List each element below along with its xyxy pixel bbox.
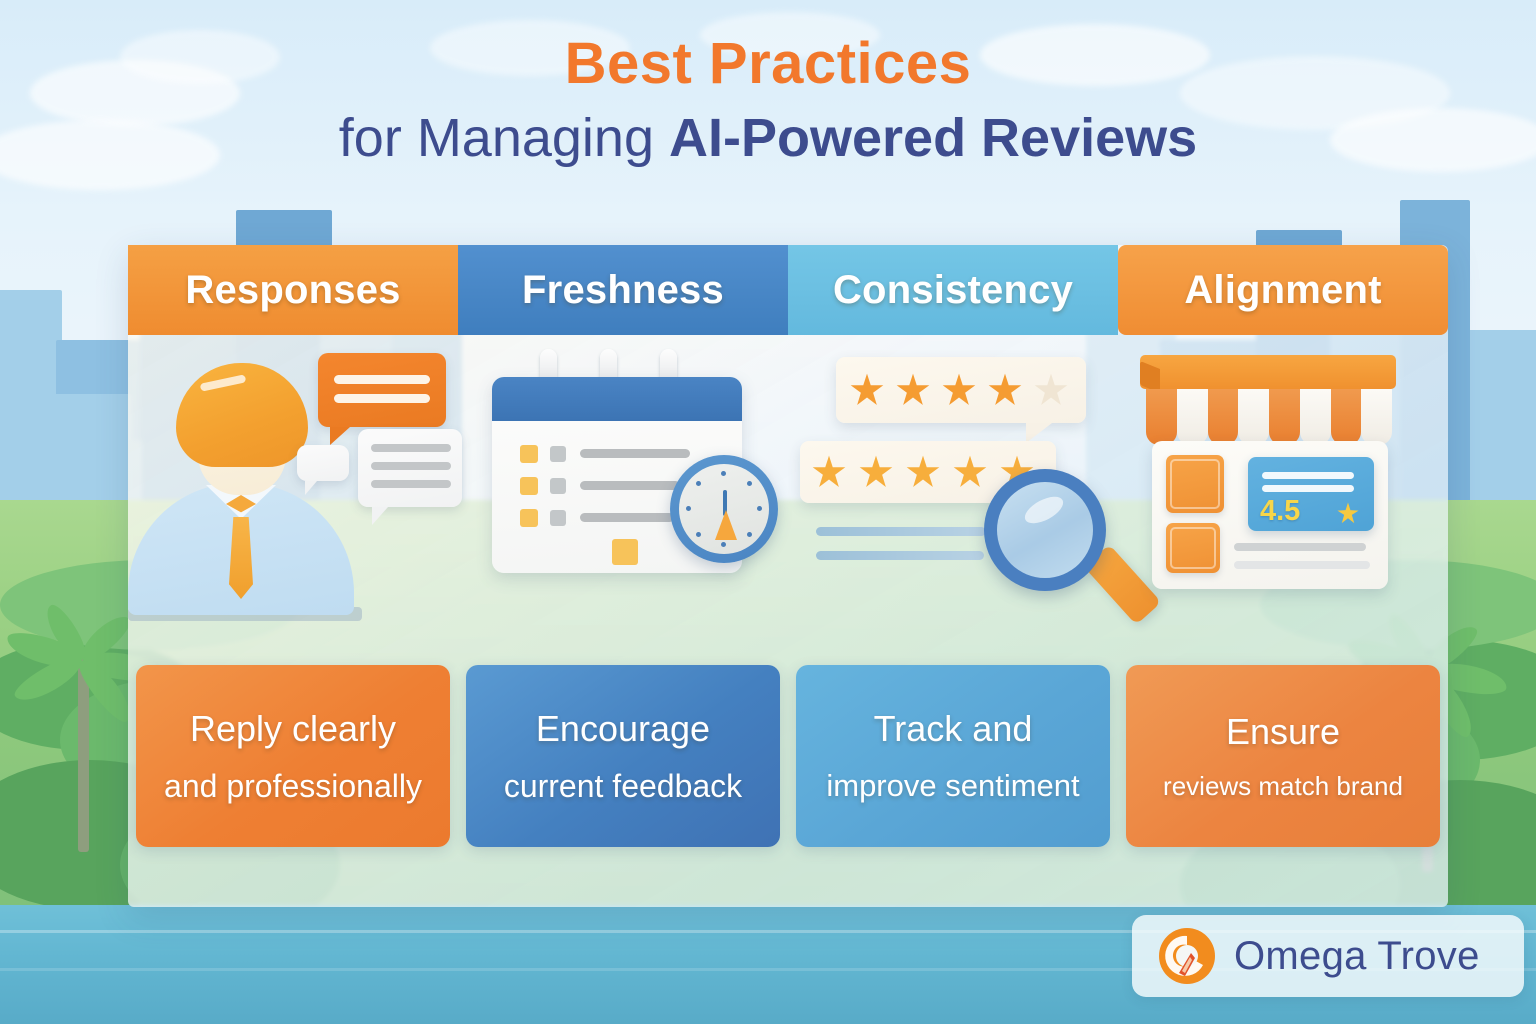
clock-tick (721, 542, 726, 547)
header-cell-consistency[interactable]: Consistency (788, 245, 1118, 335)
tile-inner-border (1170, 459, 1220, 509)
omega-swirl-icon (1158, 927, 1216, 985)
caption-cell-alignment[interactable]: Ensure reviews match brand (1118, 665, 1448, 847)
bubble-tail (330, 427, 350, 445)
header-cell-responses[interactable]: Responses (128, 245, 458, 335)
star-icon-empty (1034, 373, 1068, 407)
calendar-checkbox (550, 510, 566, 526)
rating-star-icon (1336, 501, 1360, 525)
caption-line-2: improve sentiment (826, 768, 1079, 804)
awning-stripe (1331, 389, 1362, 445)
shop-facade: 4.5 (1152, 441, 1388, 589)
caption-line-2: and professionally (164, 768, 422, 805)
awning-stripe (1300, 389, 1331, 445)
header-label: Consistency (833, 268, 1073, 313)
calendar-marker (520, 509, 538, 527)
shop-awning (1146, 389, 1392, 445)
caption-line-1: Reply clearly (190, 708, 396, 750)
caption-row: Reply clearly and professionally Encoura… (128, 665, 1448, 847)
calendar-marker (520, 445, 538, 463)
subtitle-bold: AI-Powered Reviews (669, 108, 1197, 168)
facade-line (1234, 543, 1366, 551)
header-label: Alignment (1184, 268, 1381, 313)
caption-cell-freshness[interactable]: Encourage current feedback (458, 665, 788, 847)
clock-tick (747, 532, 752, 537)
review-text-line (816, 527, 986, 536)
caption-line-1: Ensure (1226, 711, 1340, 753)
tile-inner-border (1170, 527, 1216, 569)
bubble-text-line (371, 462, 451, 470)
storefront-with-rating-card-illustration: 4.5 (1118, 335, 1448, 653)
awning-stripe (1361, 389, 1392, 445)
star-icon (988, 373, 1022, 407)
bubble-text-line (334, 394, 430, 403)
calendar-row-line (580, 513, 674, 522)
review-text-line (816, 551, 984, 560)
subtitle-prefix: for Managing (339, 108, 669, 168)
panel-responses (128, 335, 458, 653)
calendar-header (492, 377, 742, 421)
logo-text: Omega Trove (1234, 934, 1480, 979)
calendar-row-line (580, 481, 680, 490)
caption-box: Reply clearly and professionally (136, 665, 450, 847)
shop-signboard (1140, 355, 1396, 389)
illustration-panels: 4.5 (128, 335, 1448, 653)
column-headers: Responses Freshness Consistency Alignmen… (128, 245, 1448, 335)
brand-tile-secondary (1166, 523, 1220, 573)
caption-box: Encourage current feedback (466, 665, 780, 847)
rating-value: 4.5 (1260, 495, 1300, 528)
panel-freshness (458, 335, 788, 653)
awning-stripe (1146, 389, 1177, 445)
bubble-tail (372, 507, 388, 525)
rating-card: 4.5 (1248, 457, 1374, 531)
caption-line-1: Encourage (536, 708, 710, 750)
lens-highlight (1021, 491, 1067, 528)
clock-tick (747, 481, 752, 486)
header-cell-alignment[interactable]: Alignment (1118, 245, 1448, 335)
person-with-speech-bubbles-illustration (128, 335, 458, 653)
star-icon (942, 373, 976, 407)
header-label: Responses (185, 268, 400, 313)
clock-tick (721, 471, 726, 476)
review-card-top (836, 357, 1086, 423)
page-title: Best Practices (0, 34, 1536, 95)
speech-bubble-orange (318, 353, 446, 427)
bubble-text-line (371, 444, 451, 452)
brand-tile-logo (1166, 455, 1224, 513)
caption-cell-responses[interactable]: Reply clearly and professionally (128, 665, 458, 847)
star-icon (859, 455, 893, 489)
magnifier-icon (984, 469, 1106, 591)
clock-tick (686, 506, 691, 511)
title-block: Best Practices for Managing AI-Powered R… (0, 34, 1536, 168)
clock-tick (696, 532, 701, 537)
calendar-marker (612, 539, 638, 565)
magnifier-lens (997, 482, 1093, 578)
caption-cell-consistency[interactable]: Track and improve sentiment (788, 665, 1118, 847)
panel-consistency (788, 335, 1118, 653)
star-icon (953, 455, 987, 489)
calendar-with-clock-illustration (458, 335, 788, 653)
rating-card-line (1262, 485, 1354, 492)
logo-plate[interactable]: Omega Trove (1132, 915, 1524, 997)
caption-box: Ensure reviews match brand (1126, 665, 1440, 847)
infographic-card: Responses Freshness Consistency Alignmen… (128, 245, 1448, 907)
awning-stripe (1269, 389, 1300, 445)
caption-line-2: reviews match brand (1163, 771, 1403, 802)
clock-minute-hand (715, 510, 737, 540)
clock-face (679, 464, 769, 554)
calendar-row-line (580, 449, 690, 458)
bubble-text-line (334, 375, 430, 384)
clock-tick (757, 506, 762, 511)
calendar-checkbox (550, 446, 566, 462)
panel-alignment: 4.5 (1118, 335, 1448, 653)
caption-line-2: current feedback (504, 768, 742, 805)
star-icon (850, 373, 884, 407)
awning-stripe (1238, 389, 1269, 445)
clock-tick (696, 481, 701, 486)
star-icon (812, 455, 846, 489)
awning-stripe (1208, 389, 1239, 445)
speech-bubble-white-large (358, 429, 462, 507)
page-subtitle: for Managing AI-Powered Reviews (0, 109, 1536, 168)
calendar-marker (520, 477, 538, 495)
person-head (176, 363, 308, 495)
clock-icon (670, 455, 778, 563)
header-cell-freshness[interactable]: Freshness (458, 245, 788, 335)
speech-bubble-white-small (297, 445, 349, 481)
bubble-text-line (371, 480, 451, 488)
rating-card-line (1262, 472, 1354, 479)
bubble-tail (305, 481, 317, 495)
awning-stripe (1177, 389, 1208, 445)
star-icon (896, 373, 930, 407)
star-icon (906, 455, 940, 489)
caption-line-1: Track and (874, 708, 1033, 750)
star-reviews-with-magnifier-illustration (788, 335, 1118, 653)
tie-body (229, 517, 253, 599)
storefront: 4.5 (1132, 355, 1404, 605)
facade-line (1234, 561, 1370, 569)
caption-box: Track and improve sentiment (796, 665, 1110, 847)
calendar-checkbox (550, 478, 566, 494)
review-card-tail (1026, 423, 1052, 443)
header-label: Freshness (522, 268, 724, 313)
